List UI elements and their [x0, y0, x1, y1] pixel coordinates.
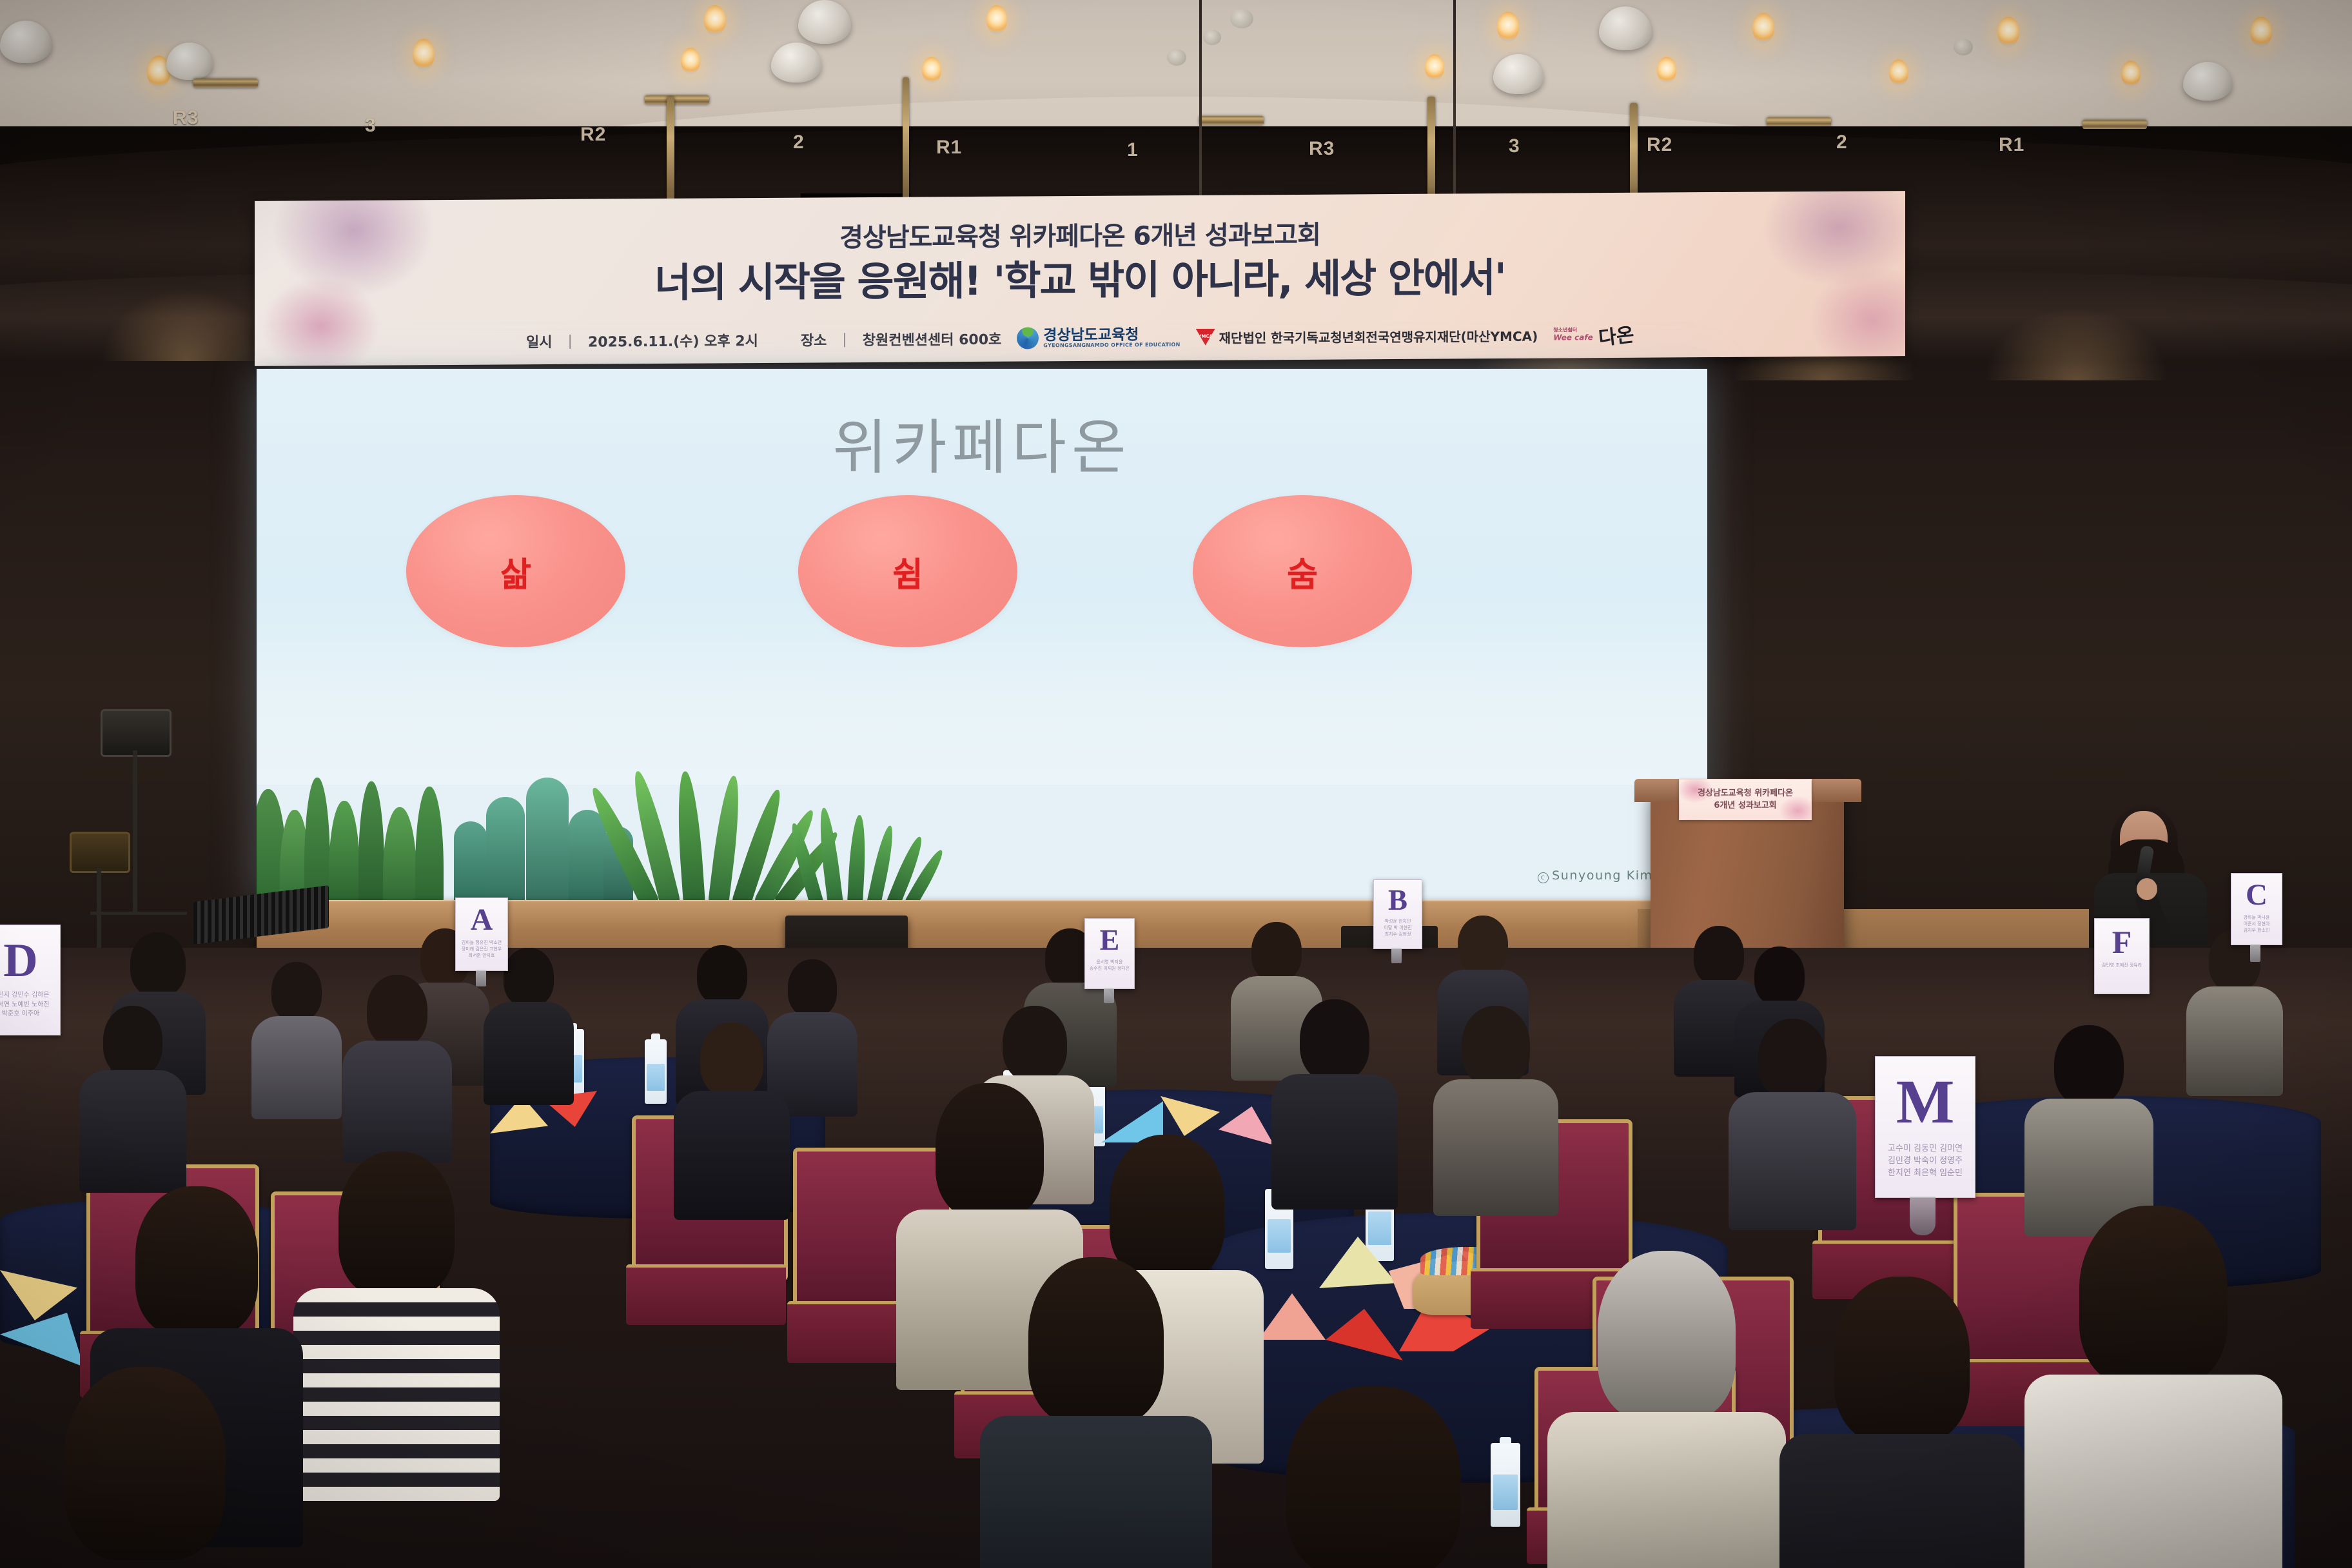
cactus-column — [526, 778, 569, 904]
downlight — [986, 5, 1007, 35]
audience-torso — [2186, 986, 2283, 1096]
presenter-hand — [2137, 878, 2157, 900]
rigging-turnbuckle — [645, 95, 709, 104]
banner-sep-2: | — [842, 331, 847, 348]
rigging-turnbuckle — [193, 79, 258, 88]
banner-date-label: 일시 — [526, 331, 552, 351]
banner-place-value: 창원컨벤션센터 600호 — [863, 328, 1002, 349]
ymca-logo-text: 재단법인 한국기독교청년회전국연맹유지재단(마산YMCA) — [1219, 326, 1538, 346]
downlight — [2250, 17, 2272, 48]
wall-uplight-glow — [103, 290, 271, 361]
audience-head — [135, 1186, 258, 1336]
cactus-column — [454, 821, 487, 904]
audience-head — [1300, 999, 1369, 1082]
podium-sign: 경상남도교육청 위카페다온 6개년 성과보고회 — [1679, 779, 1812, 820]
audience-head — [1003, 1006, 1067, 1082]
slide-bubble-label: 숨 — [1287, 547, 1318, 596]
audience-head — [103, 1006, 162, 1077]
audience-head — [271, 962, 322, 1021]
wall-marker: R3 — [1309, 138, 1335, 160]
gyeongnam-education-logo: 경상남도교육청 GYEONGSANGNAMDO OFFICE OF EDUCAT… — [1017, 326, 1180, 349]
table-placard-names: 고수미 김동민 김미연 김민경 박숙이 정영주 한지연 최은혁 임순민 — [1888, 1143, 1963, 1180]
audience-member — [1741, 1019, 1844, 1206]
table-placard-letter: B — [1388, 886, 1407, 915]
wall-marker: 2 — [1836, 132, 1848, 153]
agave-leaf — [674, 770, 705, 904]
audience-head — [936, 1083, 1044, 1219]
audience-member — [683, 1023, 780, 1197]
stage-light-head — [70, 832, 130, 873]
wall-marker: R1 — [936, 137, 962, 159]
gyeongnam-logo-korean: 경상남도교육청 — [1043, 328, 1180, 343]
ceiling-vent — [1230, 9, 1253, 28]
placard-stand — [1391, 948, 1402, 963]
audience-member — [1573, 1251, 1760, 1568]
ymca-triangle-icon — [1196, 329, 1215, 346]
table-placard-letter: D — [3, 937, 37, 985]
audience-torso — [1433, 1079, 1558, 1216]
slide-bubble-label: 쉼 — [892, 547, 923, 596]
downlight — [1889, 59, 1908, 86]
slide-bubble-swim: 쉼 — [798, 495, 1017, 647]
audience-head — [367, 975, 427, 1047]
audience-torso — [674, 1091, 790, 1220]
wall-marker: R1 — [1999, 134, 2024, 156]
audience-head — [1028, 1257, 1164, 1425]
table-placard-names: 박성윤 한지민 이달 박 이현진 최지수 김현정 — [1384, 918, 1411, 937]
rigging-turnbuckle — [1199, 116, 1264, 125]
audience-member — [2195, 930, 2275, 1078]
audience-head — [1758, 1019, 1827, 1100]
slide-title: 위카페다온 — [257, 400, 1707, 485]
table-placard-names: 강하늘 박나윤 이준서 정현아 김지우 한소민 — [2244, 914, 2270, 934]
table-placard-b: B 박성윤 한지민 이달 박 이현진 최지수 김현정 — [1373, 879, 1422, 949]
copyright-symbol: c — [1538, 872, 1549, 883]
audience-member — [352, 975, 442, 1142]
table-placard-d: D 김민지 강민수 김하은 이서연 노예빈 노하진 박준호 이주아 — [0, 925, 61, 1035]
rigging-turnbuckle — [2082, 120, 2147, 129]
downlight — [2121, 61, 2141, 88]
audience-torso — [79, 1070, 186, 1193]
stage-light-head — [101, 709, 171, 757]
water-carton — [1491, 1443, 1520, 1527]
wall-marker: R2 — [580, 124, 606, 146]
plant-leaf — [383, 807, 416, 904]
table-placard-letter: E — [1100, 925, 1120, 955]
audience-head — [1834, 1277, 1970, 1443]
plant-leaf — [358, 781, 384, 904]
table-placard-names: 윤서영 박지윤 송수진 이재원 정다은 — [1090, 959, 1130, 972]
slide-bubble-sam: 삶 — [406, 495, 625, 647]
ceiling-vent — [1203, 30, 1221, 45]
audience-head — [2054, 1025, 2124, 1106]
plant-leaf — [329, 801, 360, 904]
audience-member — [1006, 1257, 1186, 1568]
hanging-cable — [1453, 0, 1456, 219]
slide-bubble-sum: 숨 — [1193, 495, 1412, 647]
wall-marker: 2 — [793, 132, 805, 153]
podium-sign-line2: 6개년 성과보고회 — [1714, 799, 1776, 812]
daon-brush-text: 다온 — [1597, 318, 1636, 351]
audience-member — [2037, 1025, 2141, 1212]
audience-head — [1458, 916, 1508, 975]
banner-footer: 일시 | 2025.6.11.(수) 오후 2시 장소 | 창원컨벤션센터 60… — [255, 318, 1905, 357]
audience-member — [2050, 1206, 2257, 1567]
audience-head — [1694, 926, 1744, 985]
table-placard-m: M 고수미 김동민 김미연 김민경 박숙이 정영주 한지연 최은혁 임순민 — [1875, 1056, 1975, 1198]
audience-torso — [342, 1041, 452, 1163]
ymca-logo: 재단법인 한국기독교청년회전국연맹유지재단(마산YMCA) — [1196, 326, 1538, 346]
downlight — [704, 5, 726, 36]
wall-marker: R2 — [1647, 134, 1672, 156]
audience-member — [1444, 1006, 1547, 1193]
podium-sign-line1: 경상남도교육청 위카페다온 — [1698, 787, 1793, 800]
audience-head — [1251, 922, 1302, 981]
audience-torso — [1729, 1092, 1856, 1230]
wee-cafe-script: Wee cafe — [1553, 333, 1593, 342]
downlight — [1497, 12, 1519, 43]
banner-title: 너의 시작을 응원해! '학교 밖이 아니라, 세상 안에서' — [255, 242, 1905, 311]
hanging-cable — [1199, 0, 1202, 213]
audience-torso — [251, 1016, 342, 1119]
placard-stand — [1104, 988, 1114, 1003]
table-placard-names: 김민지 강민수 김하은 이서연 노예빈 노하진 박준호 이주아 — [0, 991, 50, 1019]
cactus-column — [569, 810, 606, 904]
audience-torso — [293, 1288, 500, 1501]
plant-leaf — [415, 787, 444, 904]
placard-stand — [476, 970, 486, 986]
wee-cafe-daon-logo: 청소년쉼터 Wee cafe 다온 — [1553, 320, 1634, 349]
audience-torso — [1547, 1412, 1786, 1568]
wall-marker: R3 — [173, 107, 199, 129]
audience-head — [130, 932, 186, 997]
downlight — [1997, 17, 2019, 48]
audience-head — [64, 1367, 226, 1560]
downlight — [681, 48, 700, 75]
audience-head — [1462, 1006, 1530, 1087]
downlight — [1752, 13, 1774, 44]
audience-head — [700, 1023, 763, 1097]
audience-head — [1598, 1251, 1736, 1421]
wall-marker: 3 — [365, 115, 377, 137]
audience-torso — [1271, 1074, 1398, 1210]
audience-member — [258, 962, 335, 1104]
audience-torso — [980, 1416, 1212, 1568]
audience-head — [788, 959, 837, 1017]
audience-member — [88, 1006, 178, 1173]
audience-head — [1754, 946, 1805, 1006]
audience-head — [504, 948, 554, 1007]
audience-head — [1286, 1386, 1460, 1568]
banner-sep-1: | — [568, 333, 573, 349]
downlight — [413, 39, 435, 71]
gyeongnam-logo-english: GYEONGSANGNAMDO OFFICE OF EDUCATION — [1043, 342, 1180, 348]
banner-date-value: 2025.6.11.(수) 오후 2시 — [588, 329, 758, 351]
cactus-column — [486, 797, 525, 904]
wall-uplight-glow — [1986, 309, 2166, 380]
projection-screen: 위카페다온 삶 쉼 숨 — [257, 369, 1707, 904]
audience-torso — [1779, 1434, 2024, 1568]
gyeongnam-logo-mark — [1017, 327, 1039, 349]
placard-stand — [1910, 1197, 1935, 1235]
audience-head — [2079, 1206, 2228, 1386]
audience-member — [1805, 1277, 1999, 1568]
table-placard-e: E 윤서영 박지윤 송수진 이재원 정다은 — [1084, 918, 1135, 989]
slide-bubble-label: 삶 — [500, 547, 531, 596]
table-placard-letter: F — [2112, 926, 2132, 958]
table-placard-letter: C — [2246, 880, 2268, 910]
water-carton — [645, 1039, 667, 1104]
downlight — [1425, 54, 1444, 81]
audience-member — [774, 959, 851, 1101]
ceiling-vent — [1167, 49, 1186, 66]
table-placard-letter: A — [471, 905, 493, 936]
audience-head — [697, 945, 747, 1004]
audience-torso — [484, 1002, 574, 1105]
table-placard-c: C 강하늘 박나윤 이준서 정현아 김지우 한소민 — [2231, 873, 2282, 945]
slide-succulent-photo — [257, 769, 1707, 904]
audience-member — [1257, 1386, 1489, 1568]
plant-leaf — [847, 815, 867, 904]
table-placard-letter: M — [1896, 1071, 1955, 1133]
downlight — [1657, 57, 1676, 84]
wall-marker: 3 — [1509, 135, 1520, 157]
audience-member — [316, 1151, 477, 1474]
rigging-turnbuckle — [1767, 117, 1831, 126]
ceiling-vent — [1954, 39, 1973, 55]
table-placard-f: F 김민영 조예진 정유라 — [2094, 918, 2150, 994]
table-placard-a: A 김하늘 정유진 박소연 장미래 김은진 고현우 최서준 안지호 — [455, 897, 508, 971]
audience-torso — [2024, 1375, 2282, 1568]
downlight — [922, 57, 941, 84]
table-placard-names: 김하늘 정유진 박소연 장미래 김은진 고현우 최서준 안지호 — [462, 939, 502, 959]
table-placard-names: 김민영 조예진 정유라 — [2102, 962, 2142, 968]
placard-stand — [2250, 944, 2260, 962]
audience-member — [39, 1367, 251, 1568]
conference-hall-photo: R3 3 R2 2 R1 1 R3 3 R2 2 R1 경상남도교육청 위카페다… — [0, 0, 2352, 1568]
audience-member — [1283, 999, 1386, 1186]
wall-marker: 1 — [1127, 139, 1139, 161]
audience-head — [338, 1151, 455, 1296]
banner-place-label: 장소 — [801, 329, 827, 349]
event-banner: 경상남도교육청 위카페다온 6개년 성과보고회 너의 시작을 응원해! '학교 … — [255, 191, 1905, 366]
